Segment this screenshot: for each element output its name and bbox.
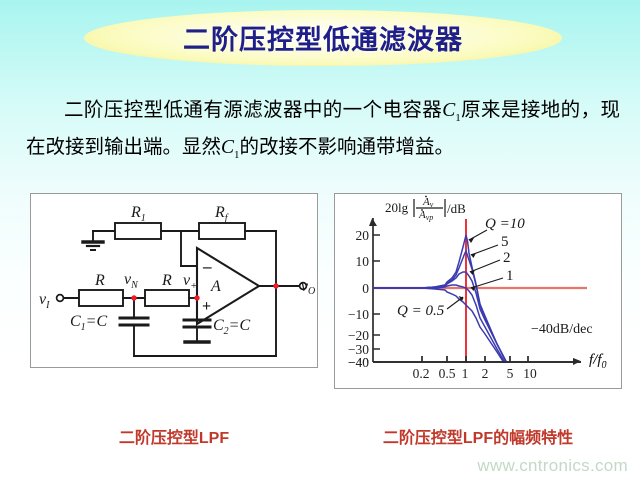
y-ticklabel-neg20: −20 [348,328,369,343]
opamp-noninverting-sign: + [202,298,211,315]
y-ticklabel-neg10: −10 [348,307,369,322]
y-ticklabel-0: 0 [362,281,369,296]
label-rf: Rf [214,204,229,224]
resistor-rf-body [199,223,245,239]
label-vn: vN [124,271,139,291]
opamp-inverting-sign: – [202,257,212,276]
label-opamp-a: A [210,278,221,295]
y-ticklabel-10: 10 [356,254,370,269]
x-ticklabel-0p2-top: 0.2 [413,366,430,381]
resistor-r-a-body [79,290,123,306]
cap-letter-b: C [221,137,234,158]
node-dot-vo [273,283,278,288]
label-c2: C2=C [213,317,250,337]
annotation-slope: −40dB/dec [531,322,593,337]
node-dot-vp [194,295,199,300]
y-axis-label-prefix: 20lg [385,200,409,215]
y-axis-label-suffix: /dB [447,201,466,216]
annotation-q1: 1 [506,268,514,284]
x-ticklabel-10-top: 10 [523,366,537,381]
plot-bottom-mask [335,363,621,388]
body-segment-3: 的改接不影响通带增益。 [240,137,455,158]
label-vp: v+ [183,272,198,292]
y-axis-label-group: 20lg Av Avp /dB [385,196,466,222]
label-vi: vI [39,291,50,311]
x-ticklabel-1-top: 1 [462,366,469,381]
circuit-diagram-panel: R1 Rf R R vI vN v+ v C1=C C2=C [30,193,318,368]
body-segment-1: 二阶压控型低通有源滤波器中的一个电容器 [64,100,442,121]
label-r-b: R [161,272,172,289]
y-axis-label-numerator: Av [422,196,434,209]
circuit-caption: 二阶压控型LPF [30,424,318,448]
y-ticklabel-neg40-top: −40 [348,355,369,370]
body-paragraph: 二阶压控型低通有源滤波器中的一个电容器C1原来是接地的，现在改接到输出端。显然C… [26,96,620,170]
slide-canvas: 二阶压控型低通滤波器 二阶压控型低通有源滤波器中的一个电容器C1原来是接地的，现… [0,0,640,480]
curve-q10 [373,235,510,369]
phasor-dot-numerator [425,196,427,198]
x-ticklabel-2-top: 2 [482,366,489,381]
page-title: 二阶压控型低通滤波器 [84,18,562,57]
bode-plot-panel: 20 10 0 −10 −20 −30 −40 0.2 0.5 1 [334,193,622,389]
terminal-vi [57,295,64,302]
site-watermark: www.cntronics.com [477,456,628,476]
x-ticklabel-0p5-top: 0.5 [439,366,456,381]
curve-q2 [373,272,510,369]
plot-caption: 二阶压控型LPF的幅频特性 [334,424,622,448]
label-c1: C1=C [70,313,107,333]
capacitor-symbol-2: C1 [221,137,240,158]
annotation-q10: Q =10 [485,216,525,232]
y-ticklabel-20: 20 [356,228,370,243]
label-r-a: R [94,272,105,289]
arrowhead-q5 [471,253,477,258]
node-dot-vn [131,295,136,300]
annotation-q2: 2 [503,250,511,266]
arrowhead-q10 [469,238,475,243]
cap-letter-a: C [442,100,455,121]
bode-plot-svg: 20 10 0 −10 −20 −30 −40 0.2 0.5 1 [335,194,621,388]
x-ticklabel-5-top: 5 [507,366,514,381]
annotation-q0p5: Q = 0.5 [397,303,445,319]
label-vo-sub-group: O [308,286,315,297]
capacitor-symbol-1: C1 [442,100,461,121]
y-axis-label-denominator: Avp [418,209,433,222]
phasor-dot-denominator [421,209,423,211]
resistor-r1-body [115,223,161,239]
annotation-q5: 5 [501,234,509,250]
resistor-r-b-body [145,290,189,306]
circuit-svg: R1 Rf R R vI vN v+ v C1=C C2=C [31,194,317,367]
label-r1: R1 [130,204,146,224]
